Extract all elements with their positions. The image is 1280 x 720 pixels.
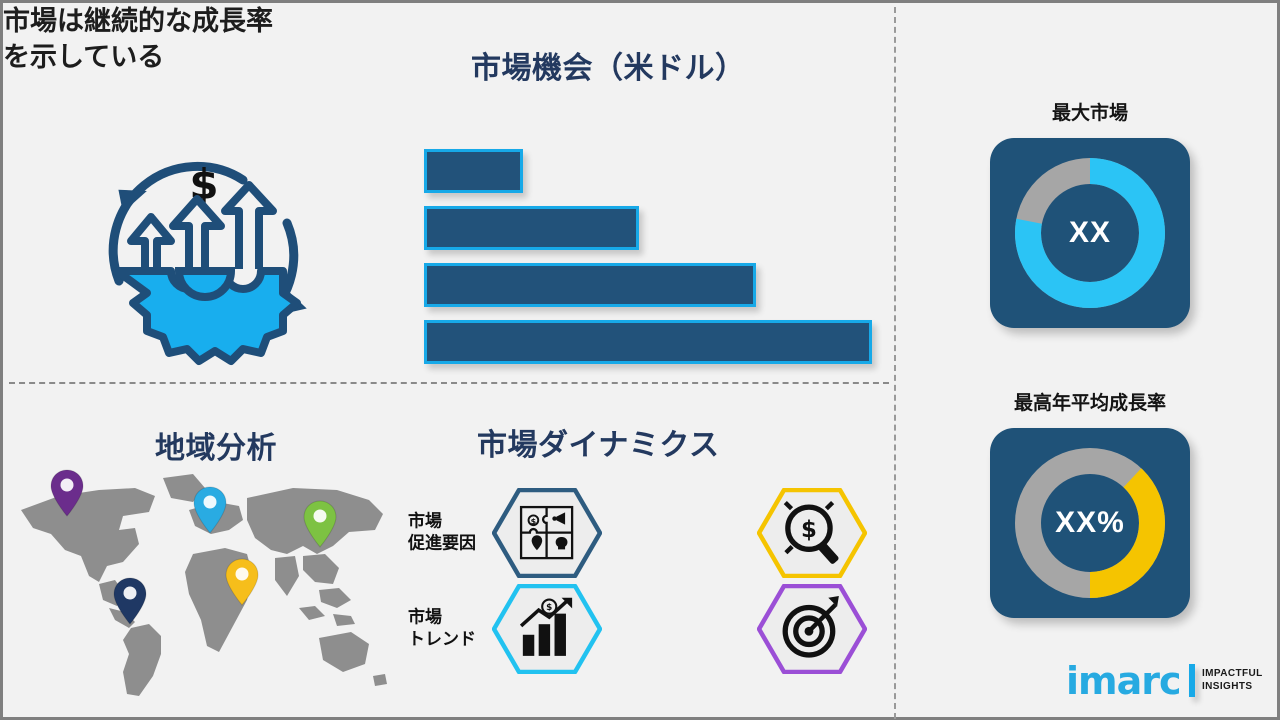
bar-3 bbox=[424, 263, 756, 307]
logo-tagline-line2: INSIGHTS bbox=[1202, 680, 1263, 693]
kpi-title-1: 最大市場 bbox=[940, 98, 1240, 125]
opportunity-bar-chart bbox=[424, 149, 894, 349]
logo-divider bbox=[1189, 664, 1195, 697]
kpi-card-1: XX bbox=[990, 138, 1190, 328]
logo-wordmark: imarc bbox=[1066, 662, 1181, 700]
bar-chart-trend-icon: $ bbox=[492, 584, 602, 674]
pin-middle-east-africa[interactable] bbox=[225, 558, 259, 606]
dynamics-item-4[interactable]: 市場 課題 bbox=[673, 584, 888, 674]
magnifier-dollar-icon: $ bbox=[757, 488, 867, 578]
logo-tagline: IMPACTFUL INSIGHTS bbox=[1202, 667, 1263, 693]
svg-text:$: $ bbox=[801, 517, 817, 543]
dynamics-item-label: 市場 トレンド bbox=[408, 607, 488, 652]
kpi-title-2: 最高年平均成長率 bbox=[940, 388, 1240, 415]
pin-south-america[interactable] bbox=[113, 577, 147, 625]
svg-text:$: $ bbox=[531, 517, 537, 526]
kpi-value-2: XX% bbox=[990, 428, 1190, 618]
growth-heading: 市場は継続的な成長率 を示している bbox=[3, 3, 353, 75]
pin-europe[interactable] bbox=[193, 486, 227, 534]
kpi-card-2: XX% bbox=[990, 428, 1190, 618]
opportunity-heading: 市場機会（米ドル） bbox=[471, 51, 746, 87]
bar-2 bbox=[424, 206, 639, 250]
infographic-slide: 市場は継続的な成長率 を示している $ 市場機会（米ドル） 地域分析 bbox=[0, 0, 1280, 720]
bar-1 bbox=[424, 149, 523, 193]
dynamics-item-2[interactable]: 市場 機会$ bbox=[673, 488, 888, 578]
dynamics-item-label: 市場 促進要因 bbox=[408, 511, 488, 556]
logo-tagline-line1: IMPACTFUL bbox=[1202, 667, 1263, 680]
pin-north-america[interactable] bbox=[50, 469, 84, 517]
kpi-value-1: XX bbox=[990, 138, 1190, 328]
horizontal-divider bbox=[9, 382, 889, 384]
puzzle-drivers-icon: $ bbox=[492, 488, 602, 578]
growth-cycle-gear-icon: $ bbox=[73, 131, 333, 371]
vertical-divider bbox=[894, 7, 896, 719]
imarc-logo: imarc IMPACTFUL INSIGHTS bbox=[1066, 658, 1262, 704]
svg-text:$: $ bbox=[546, 603, 552, 613]
world-map bbox=[3, 458, 403, 708]
dynamics-grid: 市場 促進要因$市場 機会$市場 トレンド$市場 課題 bbox=[408, 488, 888, 673]
bar-4 bbox=[424, 320, 872, 364]
pin-asia[interactable] bbox=[303, 500, 337, 548]
dynamics-heading: 市場ダイナミクス bbox=[477, 428, 720, 464]
target-dart-icon bbox=[757, 584, 867, 674]
dynamics-item-1[interactable]: 市場 促進要因$ bbox=[408, 488, 623, 578]
dynamics-item-3[interactable]: 市場 トレンド$ bbox=[408, 584, 623, 674]
